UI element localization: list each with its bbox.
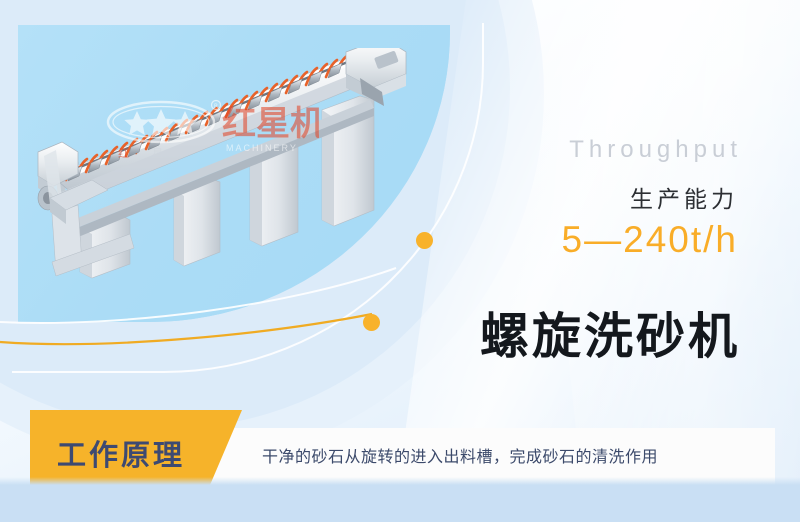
promo-banner-canvas: R 红星机器 MACHINERY 红 星 Throughput 生产能力 5—2… (0, 0, 800, 522)
orange-dot-lower (363, 314, 380, 331)
drive-motor-head (346, 48, 406, 106)
capacity-value: 5—240t/h (562, 219, 738, 261)
product-title: 螺旋洗砂机 (480, 297, 740, 368)
footer-color-band (0, 485, 800, 522)
capacity-label-cn: 生产能力 (630, 180, 738, 214)
banner-tag-label: 工作原理 (57, 432, 185, 474)
throughput-watermark-label: Throughput (569, 136, 742, 164)
product-photo-spiral-sand-washer (22, 48, 422, 288)
banner-description: 干净的砂石从旋转的进入出料槽，完成砂石的清洗作用 (262, 443, 658, 467)
spiral-blades (62, 56, 358, 181)
